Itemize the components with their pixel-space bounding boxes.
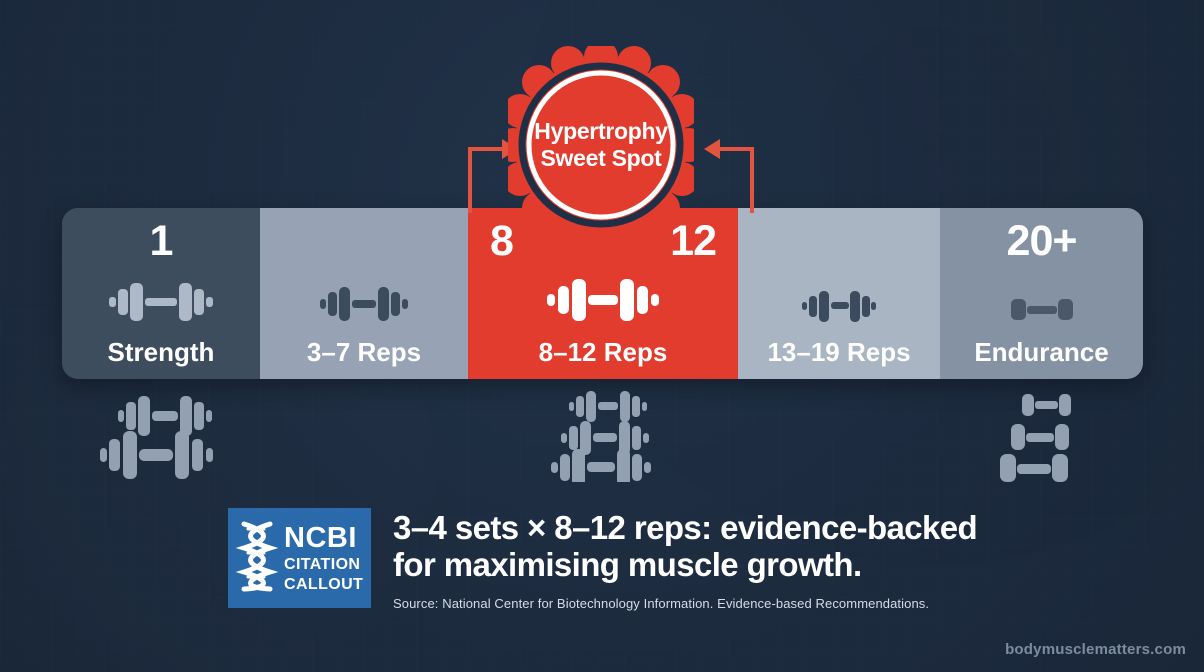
- dumbbell-icon: [547, 274, 659, 331]
- segment-label-low-reps: 3–7 Reps: [307, 339, 421, 365]
- citation-text-block: 3–4 sets × 8–12 reps: evidence-backed fo…: [393, 508, 977, 611]
- segment-label-mid-reps: 13–19 Reps: [767, 339, 910, 365]
- dumbbell-icon: [320, 282, 408, 331]
- segment-number-strength: 1: [150, 220, 173, 263]
- rep-segment-low-reps[interactable]: 3–7 Reps: [260, 208, 468, 379]
- segment-label-hypertrophy: 8–12 Reps: [539, 339, 668, 365]
- ncbi-logo[interactable]: NCBI CITATION CALLOUT: [228, 508, 371, 608]
- ncbi-subtitle-line-2: CALLOUT: [284, 577, 363, 593]
- dumbbell-stack-two-icon: [100, 390, 220, 487]
- dumbbell-icon: [109, 278, 213, 331]
- citation-headline-line-1: 3–4 sets × 8–12 reps: evidence-backed: [393, 510, 977, 547]
- ncbi-logo-words: NCBI CITATION CALLOUT: [284, 524, 363, 593]
- citation-callout: NCBI CITATION CALLOUT 3–4 sets × 8–12 re…: [228, 508, 977, 611]
- dumbbell-small-icon: [1011, 292, 1073, 331]
- dumbbell-stack-three-icon: [543, 390, 661, 487]
- rep-segment-endurance[interactable]: 20+ Endurance: [940, 208, 1143, 379]
- infographic-canvas: 1 Strength: [0, 0, 1204, 672]
- ncbi-subtitle-line-1: CITATION: [284, 557, 363, 573]
- dumbbell-rack-three-icon: [1000, 390, 1094, 487]
- hypertrophy-sweet-spot-badge[interactable]: Hypertrophy Sweet Spot: [508, 46, 694, 244]
- segment-number-endurance: 20+: [1007, 220, 1077, 263]
- citation-headline-line-2: for maximising muscle growth.: [393, 547, 977, 584]
- ncbi-title: NCBI: [284, 524, 363, 553]
- arrow-left-elbow-icon: [700, 135, 756, 220]
- citation-source: Source: National Center for Biotechnolog…: [393, 596, 977, 611]
- dumbbell-icon: [802, 286, 876, 331]
- rep-segment-strength[interactable]: 1 Strength: [62, 208, 260, 379]
- rep-segment-mid-reps[interactable]: 13–19 Reps: [738, 208, 940, 379]
- segment-label-strength: Strength: [108, 339, 215, 365]
- watermark: bodymusclematters.com: [1005, 641, 1186, 658]
- segment-label-endurance: Endurance: [974, 339, 1108, 365]
- dna-helix-icon: [236, 519, 278, 598]
